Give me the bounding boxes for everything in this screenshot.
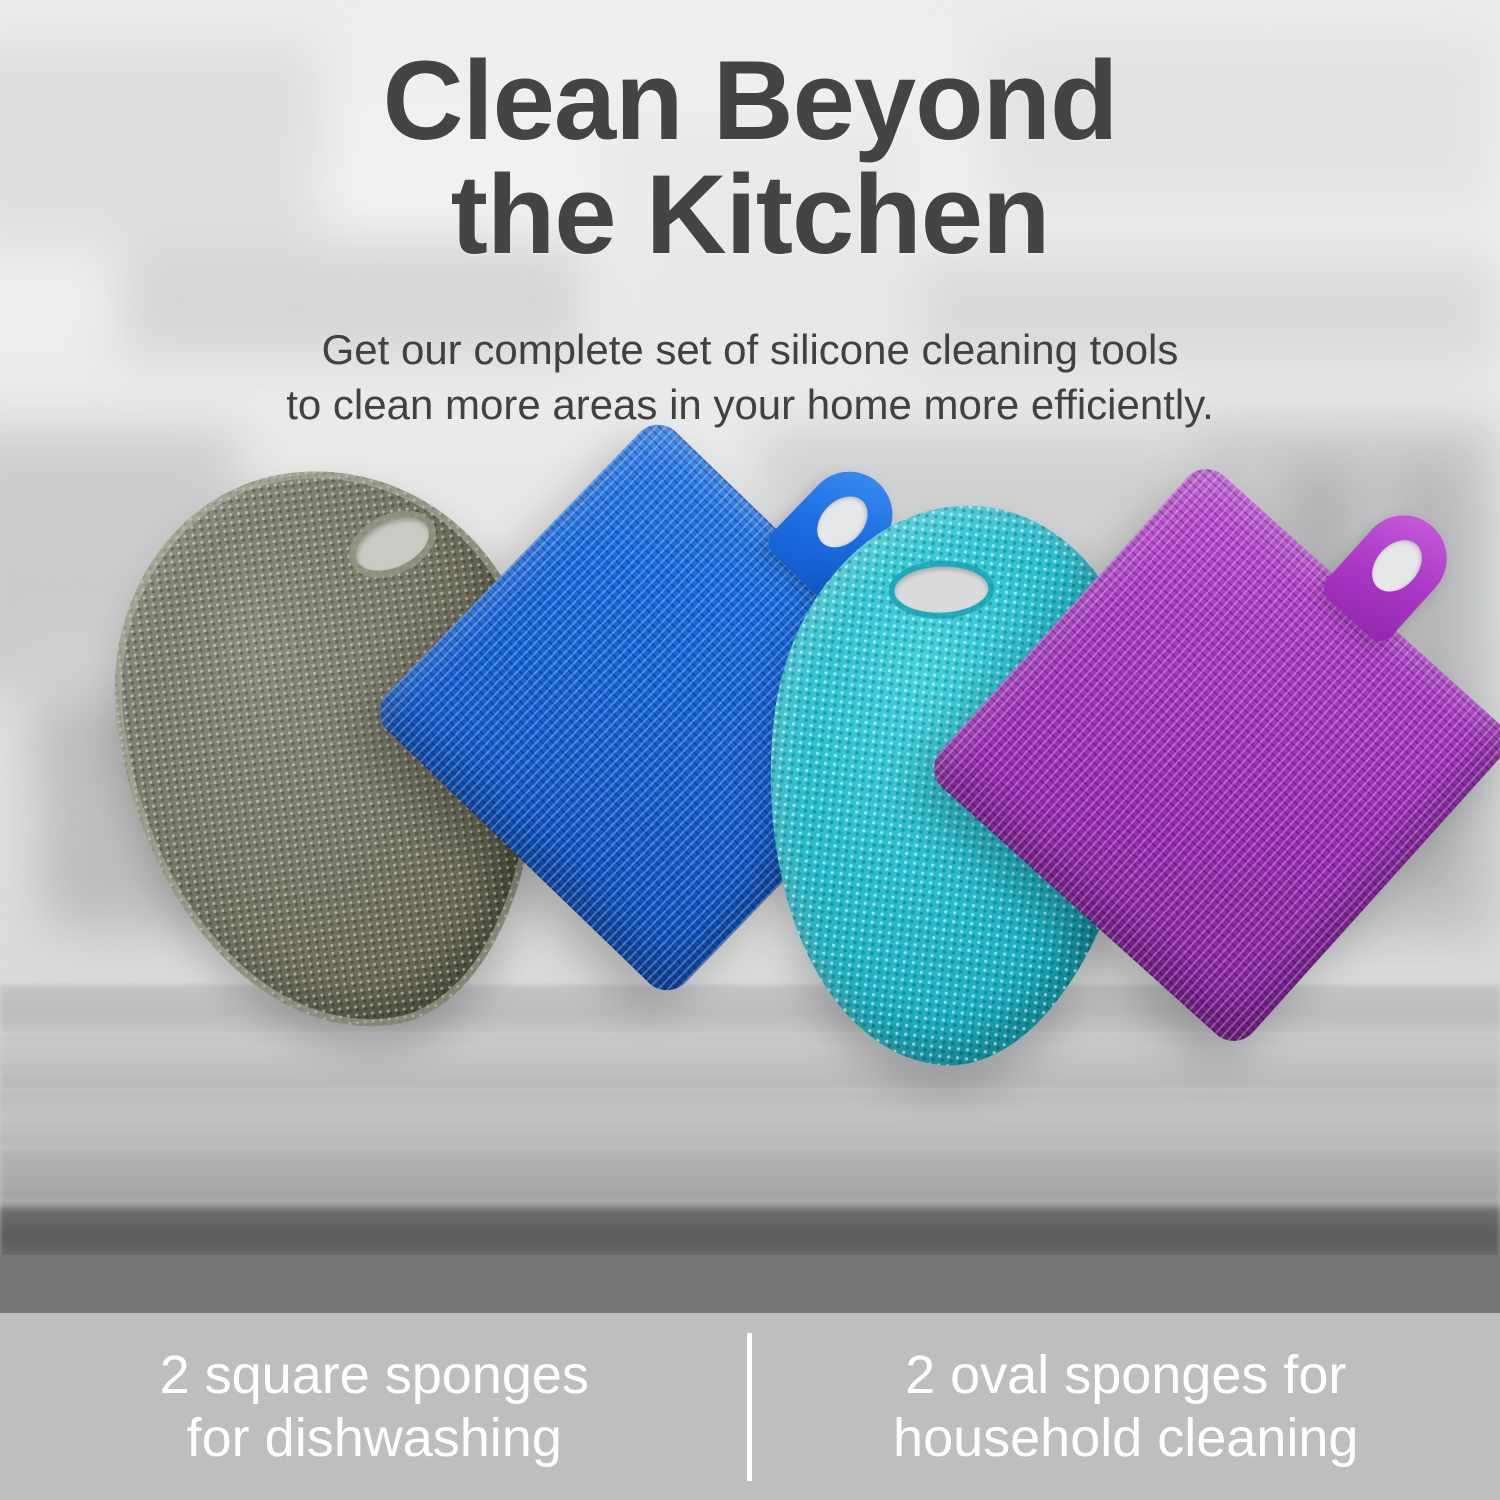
product-group	[0, 0, 1500, 1500]
caption-bar: 2 square sponges for dishwashing 2 oval …	[0, 1313, 1500, 1500]
caption-right: 2 oval sponges for household cleaning	[752, 1344, 1500, 1469]
caption-left: 2 square sponges for dishwashing	[0, 1344, 749, 1469]
promo-image-canvas: Clean Beyond the Kitchen Get our complet…	[0, 0, 1500, 1500]
hang-loop-hole	[1362, 530, 1432, 601]
